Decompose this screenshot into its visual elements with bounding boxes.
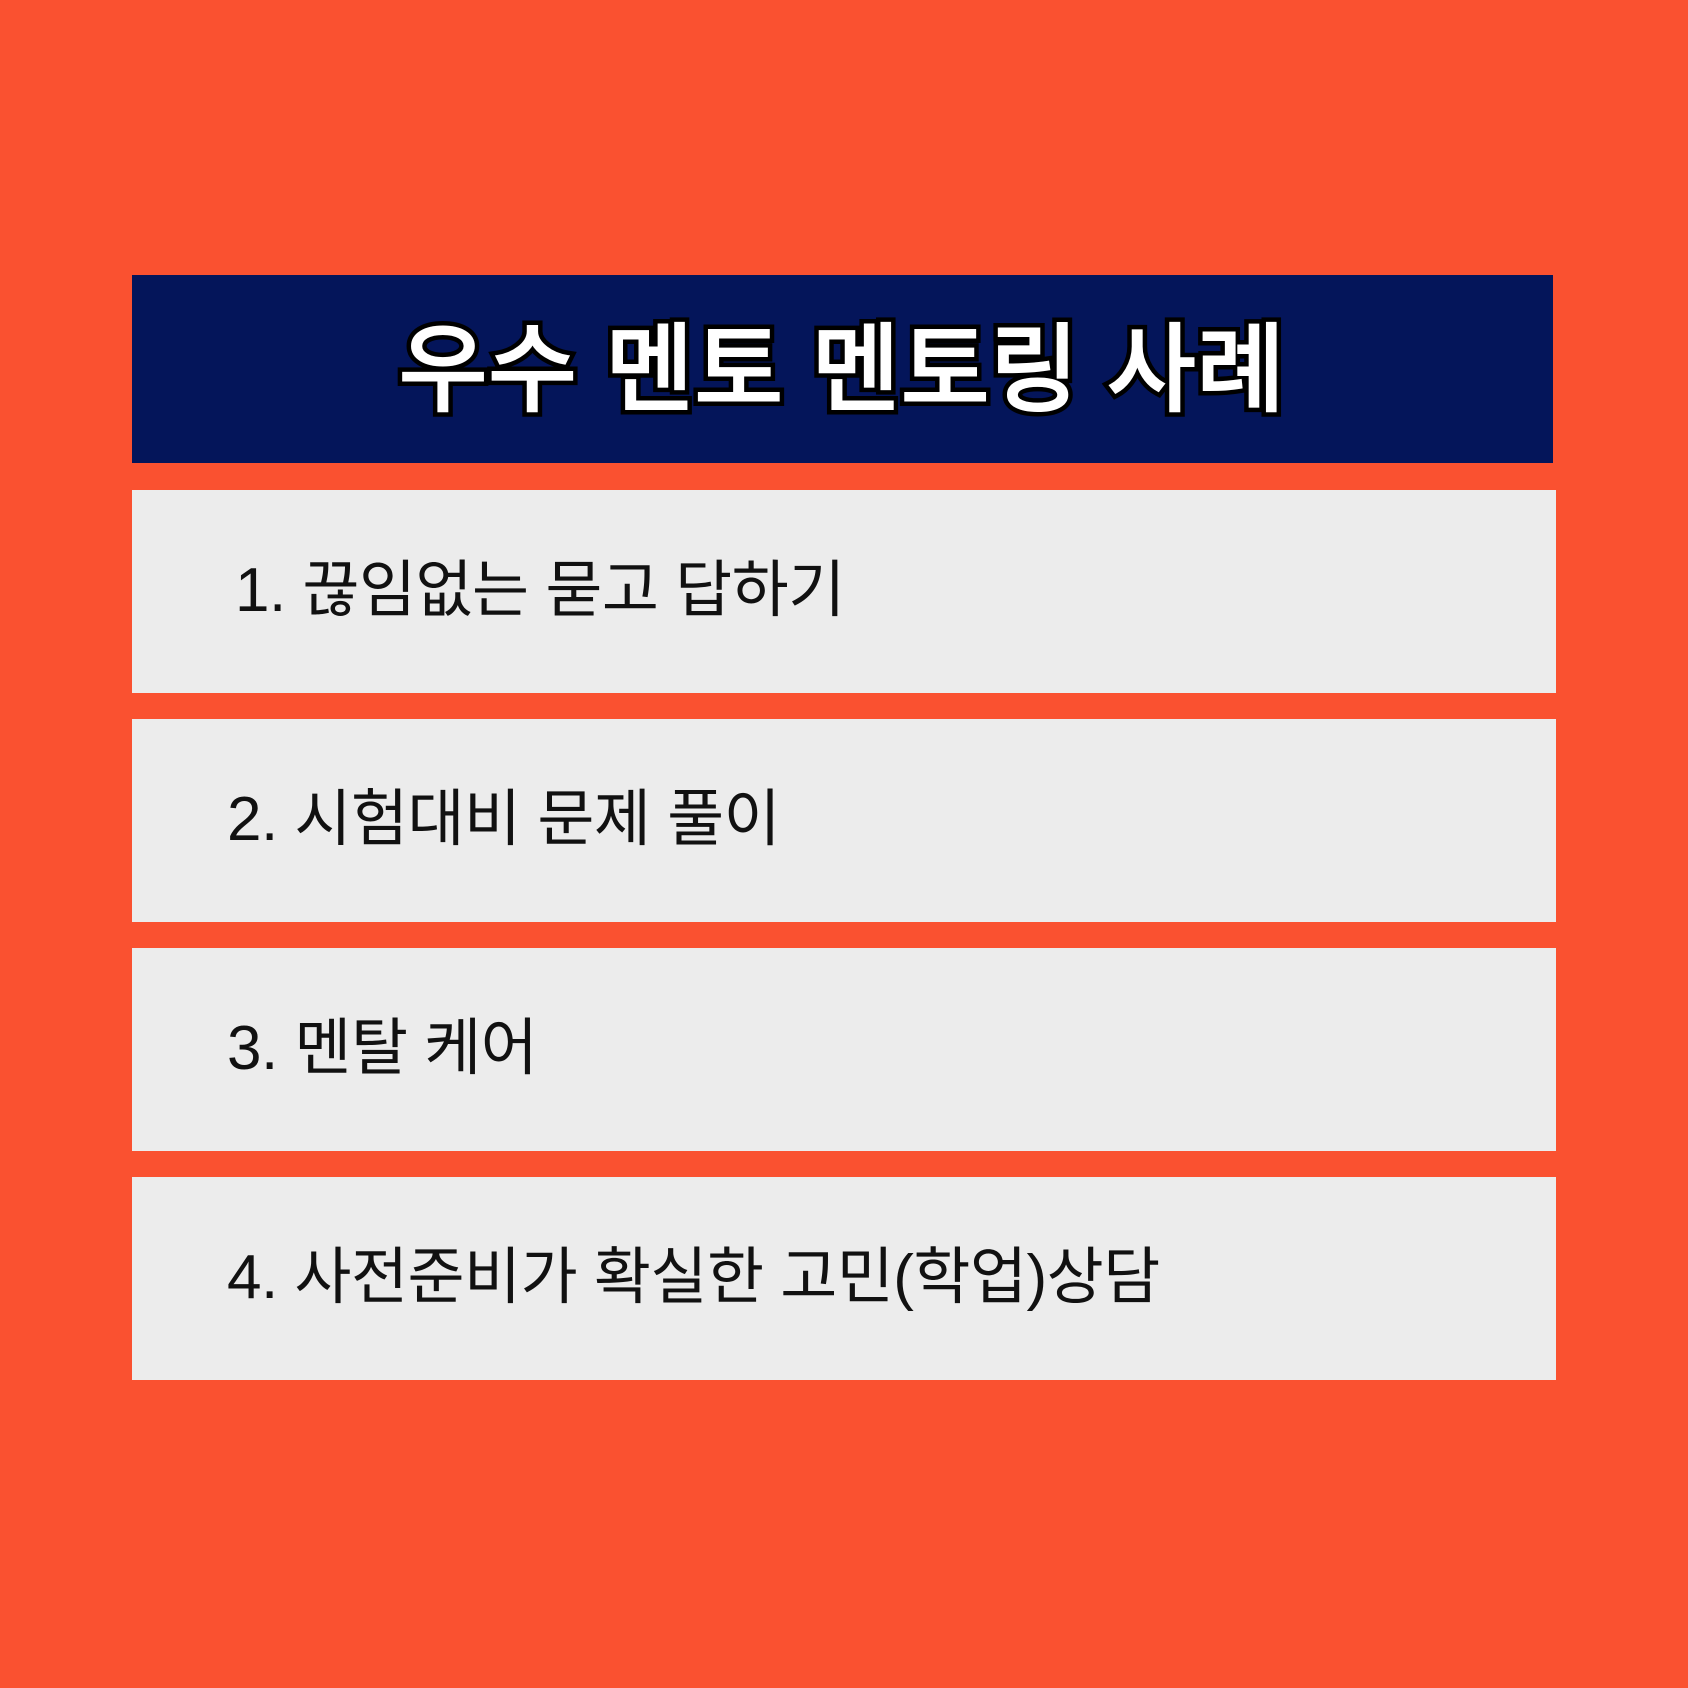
list-item: 2. 시험대비 문제 풀이 <box>132 719 1556 922</box>
list-item-label: 4. 사전준비가 확실한 고민(학업)상담 <box>227 1244 1160 1312</box>
list-item: 3. 멘탈 케어 <box>132 948 1556 1151</box>
list-item-label: 1. 끊임없는 묻고 답하기 <box>227 557 845 625</box>
title-banner: 우수 멘토 멘토링 사례 <box>132 275 1553 463</box>
page-title: 우수 멘토 멘토링 사례 <box>399 323 1286 419</box>
mentoring-case-list: 1. 끊임없는 묻고 답하기 2. 시험대비 문제 풀이 3. 멘탈 케어 4.… <box>132 490 1556 1380</box>
list-item: 1. 끊임없는 묻고 답하기 <box>132 490 1556 693</box>
list-item-label: 2. 시험대비 문제 풀이 <box>227 786 780 854</box>
slide-canvas: 우수 멘토 멘토링 사례 1. 끊임없는 묻고 답하기 2. 시험대비 문제 풀… <box>0 0 1688 1688</box>
list-item: 4. 사전준비가 확실한 고민(학업)상담 <box>132 1177 1556 1380</box>
list-item-label: 3. 멘탈 케어 <box>227 1015 537 1083</box>
